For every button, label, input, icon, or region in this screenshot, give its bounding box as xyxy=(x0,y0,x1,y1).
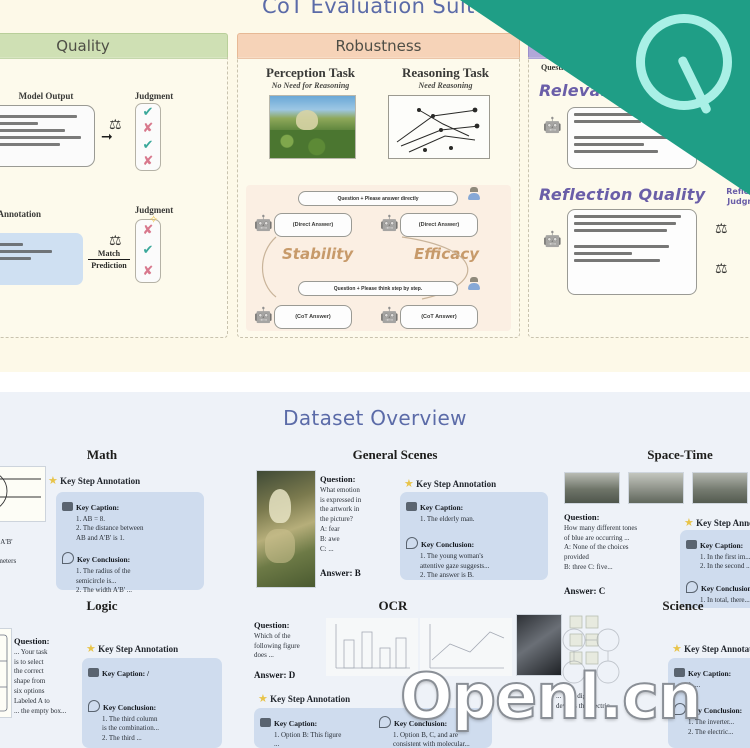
gs-key-conclusion-label: Key Conclusion: xyxy=(421,540,474,549)
sci-ksa-text: Key Step Annotation xyxy=(684,644,750,654)
pen-icon xyxy=(379,716,391,728)
ocr-annotation-box: Key Caption: 1. Option B: This figure ..… xyxy=(254,708,492,748)
gs-kk-2: attentive gaze suggests... xyxy=(420,562,489,570)
ocr-answer: Answer: D xyxy=(254,670,295,680)
judgment-cross-icon: ✘ xyxy=(143,122,154,135)
gs-q6: B: awe xyxy=(320,535,340,543)
star-icon: ★ xyxy=(672,642,682,655)
st-annotation-box: Key Caption: 1. In the first im... 2. In… xyxy=(680,530,750,608)
cot-evaluation-suite-section: CoT Evaluation Suite Quality Precision M… xyxy=(0,0,750,372)
relevance-question-label: Question: xyxy=(541,63,574,72)
reasoning-task-diagram xyxy=(388,95,490,159)
ocr-kk-1: 1. Option B, C, and are xyxy=(393,731,458,739)
gs-q4: the picture? xyxy=(320,515,353,523)
math-question: Question: ... surface width A'B' ... hol… xyxy=(0,526,48,567)
logic-key-conclusion-label: Key Conclusion: xyxy=(103,703,156,712)
robot-icon-relevance: 🤖 xyxy=(543,119,562,134)
judge-avatar-icon-1: ⚖ xyxy=(109,119,122,133)
ocr-kc-1: 1. Option B: This figure xyxy=(274,731,341,739)
judge-avatar-icon-reflection-1: ⚖ xyxy=(715,223,728,237)
st-ksa-label: ★ Key Step Annotation xyxy=(684,516,750,529)
st-kc-2: 2. In the second ... xyxy=(700,562,750,570)
math-kc-3: AB and A'B' is 1. xyxy=(76,534,125,542)
judge-avatar-icon-relevance: ⚖ xyxy=(715,133,728,147)
sci-key-conclusion-label: Key Conclusion: xyxy=(689,706,742,715)
panel-relevance-header xyxy=(528,33,750,59)
sci-q2: devices the electric... xyxy=(556,702,615,710)
ocr-ksa-label: ★ Key Step Annotation xyxy=(258,692,350,705)
st-q4: provided xyxy=(564,553,589,561)
lg-kk-3: 2. The third ... xyxy=(102,734,142,742)
sci-q1: ... with digital xyxy=(556,692,595,700)
math-question-l1: ... surface width A'B' xyxy=(0,538,13,546)
math-kc-2: 2. The distance between xyxy=(76,524,144,532)
lg-q6: Labeled A to xyxy=(14,697,50,705)
st-q5: B: three C: five... xyxy=(564,563,613,571)
panel-quality: Quality Precision Model Output Judgment … xyxy=(0,33,228,338)
category-title-space-time: Space-Time xyxy=(620,447,740,463)
space-time-thumb-2 xyxy=(628,472,684,504)
sparkle-icon: ✧ xyxy=(149,213,158,226)
science-question: ... with digital devices the electric... xyxy=(556,692,652,712)
math-ksa-text: Key Step Annotation xyxy=(60,476,140,486)
math-diagram-icon xyxy=(0,467,45,521)
math-figure xyxy=(0,466,46,522)
category-title-math: Math xyxy=(42,447,162,463)
math-key-caption-label: Key Caption: xyxy=(76,503,119,512)
gs-q1: What emotion xyxy=(320,486,360,494)
lg-q5: six options xyxy=(14,687,45,695)
panel-robustness: Robustness Perception Task No Need for R… xyxy=(237,33,520,338)
user-avatar-icon-2 xyxy=(468,277,480,290)
match-label: Match xyxy=(98,249,120,258)
st-key-caption-label: Key Caption: xyxy=(700,541,743,550)
gs-kk-1: 1. The young woman's xyxy=(420,552,483,560)
st-q1: How many different tones xyxy=(564,524,637,532)
st-key-conclusion-label: Key Conclusion: xyxy=(701,584,750,593)
gs-kk-3: 2. The answer is B. xyxy=(420,571,474,579)
math-kk-1: 1. The radius of the xyxy=(76,567,131,575)
logic-question-label: Question: xyxy=(14,636,49,646)
perception-task-image xyxy=(269,95,356,159)
st-kc-1: 1. In the first im... xyxy=(700,553,750,561)
figure-page: CoT Evaluation Suite Quality Precision M… xyxy=(0,0,750,748)
reflection-quality-title: Reflection Quality xyxy=(539,185,705,204)
gs-ksa-label: ★ Key Step Annotation xyxy=(404,477,496,490)
gs-ksa-text: Key Step Annotation xyxy=(416,479,496,489)
ocr-ksa-text: Key Step Annotation xyxy=(270,694,350,704)
math-ksa-label: ★ Key Step Annotation xyxy=(48,474,140,487)
lg-kk-2: is the combination... xyxy=(102,724,159,732)
dataset-overview-section: Dataset Overview Math Question: ... surf… xyxy=(0,392,750,748)
math-annotation-box: Key Caption: 1. AB = 8. 2. The distance … xyxy=(56,492,204,590)
ocr-figure-2 xyxy=(420,618,512,676)
pen-icon xyxy=(62,552,74,564)
general-scenes-image xyxy=(256,470,316,588)
star-icon: ★ xyxy=(48,474,58,487)
judgment-list-1: ✔ ✘ ✔ ✘ xyxy=(135,103,161,171)
science-figure xyxy=(556,624,644,694)
category-title-science: Science xyxy=(628,598,738,614)
logic-ksa-text: Key Step Annotation xyxy=(98,644,178,654)
gs-q2: is expressed in xyxy=(320,496,361,504)
math-kk-3: 2. The width A'B' ... xyxy=(76,586,132,594)
ocr-q1: Which of the xyxy=(254,632,291,640)
prompt-direct: Question + Please answer directly xyxy=(298,191,458,206)
panel-robustness-body: Perception Task No Need for Reasoning Re… xyxy=(237,57,520,338)
science-annotation-box: Key Caption: 1. ... Key Conclusion: 1. T… xyxy=(668,658,750,748)
pen-icon xyxy=(406,537,418,549)
judge-avatar-icon-reflection-2: ⚖ xyxy=(715,263,728,277)
gs-q5: A: fear xyxy=(320,525,340,533)
logic-question: Question: ... Your task is to select the… xyxy=(14,636,72,716)
st-ksa-text: Key Step Annotation xyxy=(696,518,750,528)
robot-icon-4: 🤖 xyxy=(380,309,399,324)
space-time-thumb-3 xyxy=(692,472,748,504)
logic-grid-icon xyxy=(0,629,11,717)
gs-q3: the artwork in xyxy=(320,505,359,513)
user-avatar-icon-1 xyxy=(468,187,480,200)
robot-icon-2: 🤖 xyxy=(380,217,399,232)
robustness-flow-zone: Question + Please answer directly 🤖 (Dir… xyxy=(246,185,511,331)
image-icon xyxy=(260,718,271,727)
image-icon xyxy=(88,668,99,677)
suite-title: CoT Evaluation Suite xyxy=(0,0,750,18)
gs-q7: C: ... xyxy=(320,545,334,553)
science-circuit-icon xyxy=(556,624,644,694)
robot-icon-reflection: 🤖 xyxy=(543,233,562,248)
logic-key-caption-label: Key Caption: / xyxy=(102,669,149,678)
star-icon: ★ xyxy=(404,477,414,490)
math-key-conclusion-label: Key Conclusion: xyxy=(77,555,130,564)
model-output-label: Model Output xyxy=(0,91,101,101)
general-scenes-question: Question: What emotion is expressed in t… xyxy=(320,474,386,554)
match-prediction-label: Match Prediction xyxy=(85,249,133,270)
ocr-key-conclusion-label: Key Conclusion: xyxy=(394,719,447,728)
category-title-ocr: OCR xyxy=(338,598,448,614)
space-time-question: Question: How many different tones of bl… xyxy=(564,512,676,573)
ocr-question-label: Question: xyxy=(254,620,289,630)
gs-question-label: Question: xyxy=(320,474,355,484)
reasoning-task-subtitle: Need Reasoning xyxy=(383,81,508,90)
logic-figure xyxy=(0,628,12,718)
st-q2: of blue are occurring ... xyxy=(564,534,630,542)
judgment-check-icon: ✔ xyxy=(143,106,154,119)
panel-quality-body: Precision Model Output Judgment ➞ ⚖ ✔ ✘ … xyxy=(0,57,228,338)
lg-q7: ... the empty box... xyxy=(14,707,66,715)
science-ksa-label: ★ Key Step Annotation xyxy=(672,642,750,655)
panel-robustness-header: Robustness xyxy=(237,33,520,59)
logic-annotation-box: Key Caption: / Key Conclusion: 1. The th… xyxy=(82,658,222,748)
math-kc-1: 1. AB = 8. xyxy=(76,515,105,523)
judgment-cross-icon: ✘ xyxy=(143,155,154,168)
ocr-kk-2: consistent with molecular... xyxy=(393,740,470,748)
pen-icon xyxy=(686,581,698,593)
judgment-check-icon: ✔ xyxy=(143,139,154,152)
pen-icon xyxy=(674,703,686,715)
ocr-question: Question: Which of the following figure … xyxy=(254,620,314,661)
space-time-thumb-1 xyxy=(564,472,620,504)
judge-avatar-icon-2: ⚖ xyxy=(109,235,122,249)
judgment-label-1: Judgment xyxy=(119,91,189,101)
lg-q4: shape from xyxy=(14,677,45,685)
math-kk-2: semicircle is... xyxy=(76,577,116,585)
lg-q2: is to select xyxy=(14,658,44,666)
robot-icon-3: 🤖 xyxy=(254,309,273,324)
pen-icon xyxy=(88,700,100,712)
prompt-cot: Question + Please think step by step. xyxy=(298,281,458,296)
key-step-annotation-box xyxy=(0,233,83,285)
ocr-line-chart-icon xyxy=(420,618,512,676)
sci-kc-1: 1. ... xyxy=(688,681,700,689)
panel-relevance-body: Question: Relevance Rate 🤖 ⚖ Reflection … xyxy=(528,57,750,338)
judgment-check-icon: ✔ xyxy=(143,244,154,257)
ocr-q3: does ... xyxy=(254,651,274,659)
sci-kk-1: 1. The inverter... xyxy=(688,718,734,726)
sketch-graph-icon xyxy=(389,96,489,158)
answer-cot-right: (CoT Answer) xyxy=(400,305,478,329)
lg-kk-1: 1. The third column xyxy=(102,715,157,723)
panel-quality-header: Quality xyxy=(0,33,228,59)
lg-q3: the correct xyxy=(14,667,44,675)
judgment-cross-icon: ✘ xyxy=(143,265,154,278)
ocr-kc-2: ... xyxy=(274,740,279,748)
answer-cot-left: (CoT Answer) xyxy=(274,305,352,329)
reasoning-task-title: Reasoning Task xyxy=(383,65,508,81)
reflection-speech-bubble xyxy=(567,209,697,295)
ocr-chart-icon xyxy=(326,618,418,676)
st-question-label: Question: xyxy=(564,512,599,522)
judgment-list-2: ✘ ✔ ✘ xyxy=(135,219,161,283)
category-title-general-scenes: General Scenes xyxy=(325,447,465,463)
st-q3: A: None of the choices xyxy=(564,543,629,551)
prediction-label: Prediction xyxy=(91,261,126,270)
star-icon: ★ xyxy=(684,516,694,529)
perception-task-subtitle: No Need for Reasoning xyxy=(248,81,373,90)
panel-relevance-reflection: Question: Relevance Rate 🤖 ⚖ Reflection … xyxy=(528,33,750,338)
relevance-speech-bubble xyxy=(567,107,697,169)
star-icon: ★ xyxy=(86,642,96,655)
image-icon xyxy=(62,502,73,511)
logic-ksa-label: ★ Key Step Annotation xyxy=(86,642,178,655)
gs-annotation-box: Key Caption: 1. The elderly man. Key Con… xyxy=(400,492,548,580)
model-output-box xyxy=(0,105,95,167)
robot-icon-1: 🤖 xyxy=(254,217,273,232)
image-icon xyxy=(406,502,417,511)
sci-kk-2: 2. The electric... xyxy=(688,728,733,736)
ocr-q2: following figure xyxy=(254,642,300,650)
category-title-logic: Logic xyxy=(42,598,162,614)
general-scenes-answer: Answer: B xyxy=(320,568,361,578)
reflection-judgment-label: Reflection Judgment xyxy=(709,187,750,208)
image-icon xyxy=(674,668,685,677)
ocr-figure-1 xyxy=(326,618,418,676)
perception-task-title: Perception Task xyxy=(248,65,373,81)
lg-q1: ... Your task xyxy=(14,648,47,656)
sci-key-caption-label: Key Caption: xyxy=(688,669,731,678)
image-icon xyxy=(686,540,697,549)
relevance-rate-title: Relevance Rate xyxy=(539,81,682,100)
key-step-annotation-label: Key Step Annotation xyxy=(0,209,111,219)
dataset-overview-title: Dataset Overview xyxy=(0,406,750,430)
gs-key-caption-label: Key Caption: xyxy=(420,503,463,512)
gs-kc-1: 1. The elderly man. xyxy=(420,515,475,523)
space-time-answer: Answer: C xyxy=(564,586,605,596)
math-question-l3: ... cm. B: 2√15 meters xyxy=(0,557,16,565)
ocr-key-caption-label: Key Caption: xyxy=(274,719,317,728)
star-icon: ★ xyxy=(258,692,268,705)
